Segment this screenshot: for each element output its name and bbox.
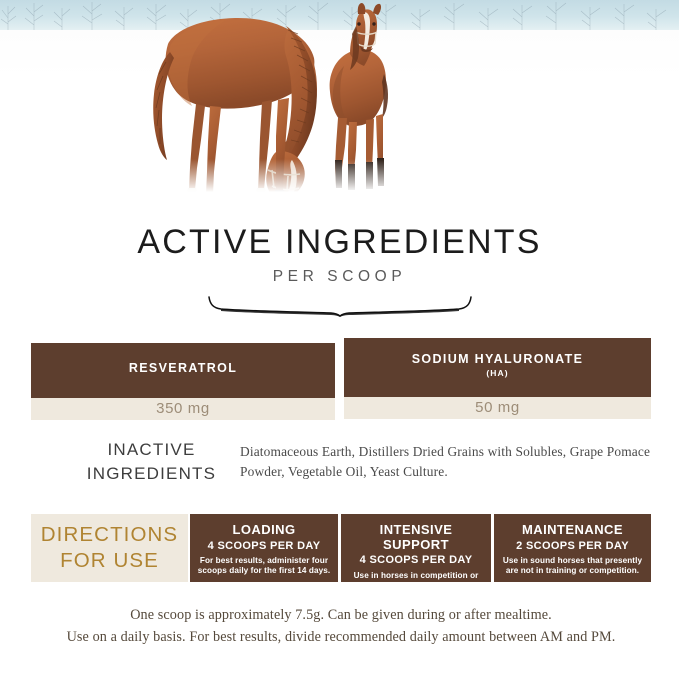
hero-photo bbox=[0, 0, 679, 205]
directions-title: DIRECTIONS FOR USE bbox=[31, 514, 188, 582]
dosage-description: For best results, administer four scoops… bbox=[196, 556, 332, 577]
ingredient-header: RESVERATROL bbox=[31, 343, 335, 398]
photo-fade-overlay bbox=[0, 159, 679, 205]
inactive-ingredients-section: INACTIVE INGREDIENTS Diatomaceous Earth,… bbox=[31, 436, 651, 498]
directions-title-line-1: DIRECTIONS bbox=[41, 522, 178, 548]
dosage-amount: 4 SCOOPS PER DAY bbox=[196, 540, 332, 553]
inactive-label-line-2: INGREDIENTS bbox=[59, 462, 244, 486]
footer-note: One scoop is approximately 7.5g. Can be … bbox=[31, 604, 651, 648]
dosage-card-intensive-support: INTENSIVE SUPPORT 4 SCOOPS PER DAY Use i… bbox=[341, 514, 491, 582]
directions-for-use-row: DIRECTIONS FOR USE LOADING 4 SCOOPS PER … bbox=[31, 514, 651, 582]
dosage-amount: 2 SCOOPS PER DAY bbox=[500, 540, 645, 553]
dosage-heading: LOADING bbox=[196, 523, 332, 538]
dosage-heading: MAINTENANCE bbox=[500, 523, 645, 538]
page-subtitle: PER SCOOP bbox=[0, 268, 679, 286]
product-label-page: ACTIVE INGREDIENTS PER SCOOP RESVERATROL… bbox=[0, 0, 679, 679]
active-ingredient-card-1: SODIUM HYALURONATE (HA) 50 mg bbox=[344, 338, 651, 419]
title-block: ACTIVE INGREDIENTS PER SCOOP bbox=[0, 224, 679, 317]
inactive-label-line-1: INACTIVE bbox=[59, 438, 244, 462]
dosage-description: Use in sound horses that presently are n… bbox=[500, 556, 645, 577]
dosage-heading: INTENSIVE SUPPORT bbox=[347, 523, 485, 552]
dosage-amount: 4 SCOOPS PER DAY bbox=[347, 554, 485, 567]
ingredient-header: SODIUM HYALURONATE (HA) bbox=[344, 338, 651, 397]
ingredient-name: SODIUM HYALURONATE bbox=[350, 352, 645, 366]
page-title: ACTIVE INGREDIENTS bbox=[0, 224, 679, 261]
ingredient-abbreviation: (HA) bbox=[350, 369, 645, 379]
ingredient-amount: 50 mg bbox=[344, 397, 651, 419]
footer-line-1: One scoop is approximately 7.5g. Can be … bbox=[31, 604, 651, 626]
ingredient-name: RESVERATROL bbox=[37, 361, 329, 375]
ingredient-amount: 350 mg bbox=[31, 398, 335, 420]
active-ingredients-row: RESVERATROL 350 mg SODIUM HYALURONATE (H… bbox=[31, 338, 651, 422]
dosage-card-maintenance: MAINTENANCE 2 SCOOPS PER DAY Use in soun… bbox=[494, 514, 651, 582]
footer-line-2: Use on a daily basis. For best results, … bbox=[31, 626, 651, 648]
dosage-description: Use in horses in competition or training… bbox=[347, 571, 485, 592]
decorative-brace-icon bbox=[207, 295, 473, 317]
inactive-ingredients-label: INACTIVE INGREDIENTS bbox=[59, 438, 244, 486]
dosage-card-loading: LOADING 4 SCOOPS PER DAY For best result… bbox=[190, 514, 338, 582]
active-ingredient-card-0: RESVERATROL 350 mg bbox=[31, 338, 335, 420]
directions-title-line-2: FOR USE bbox=[41, 548, 178, 574]
inactive-ingredients-text: Diatomaceous Earth, Distillers Dried Gra… bbox=[240, 442, 654, 483]
